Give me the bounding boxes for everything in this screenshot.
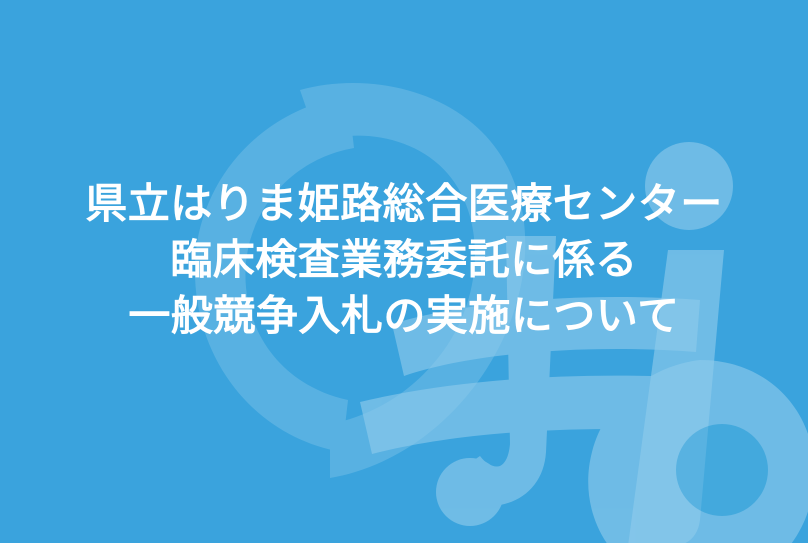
title-line-1: 県立はりま姫路総合医療センター — [0, 176, 808, 232]
title-slide: 県立はりま姫路総合医療センター 臨床検査業務委託に係る 一般競争入札の実施につい… — [0, 0, 808, 543]
title-block: 県立はりま姫路総合医療センター 臨床検査業務委託に係る 一般競争入札の実施につい… — [0, 176, 808, 344]
title-line-3: 一般競争入札の実施について — [0, 288, 808, 344]
title-line-2: 臨床検査業務委託に係る — [0, 232, 808, 288]
